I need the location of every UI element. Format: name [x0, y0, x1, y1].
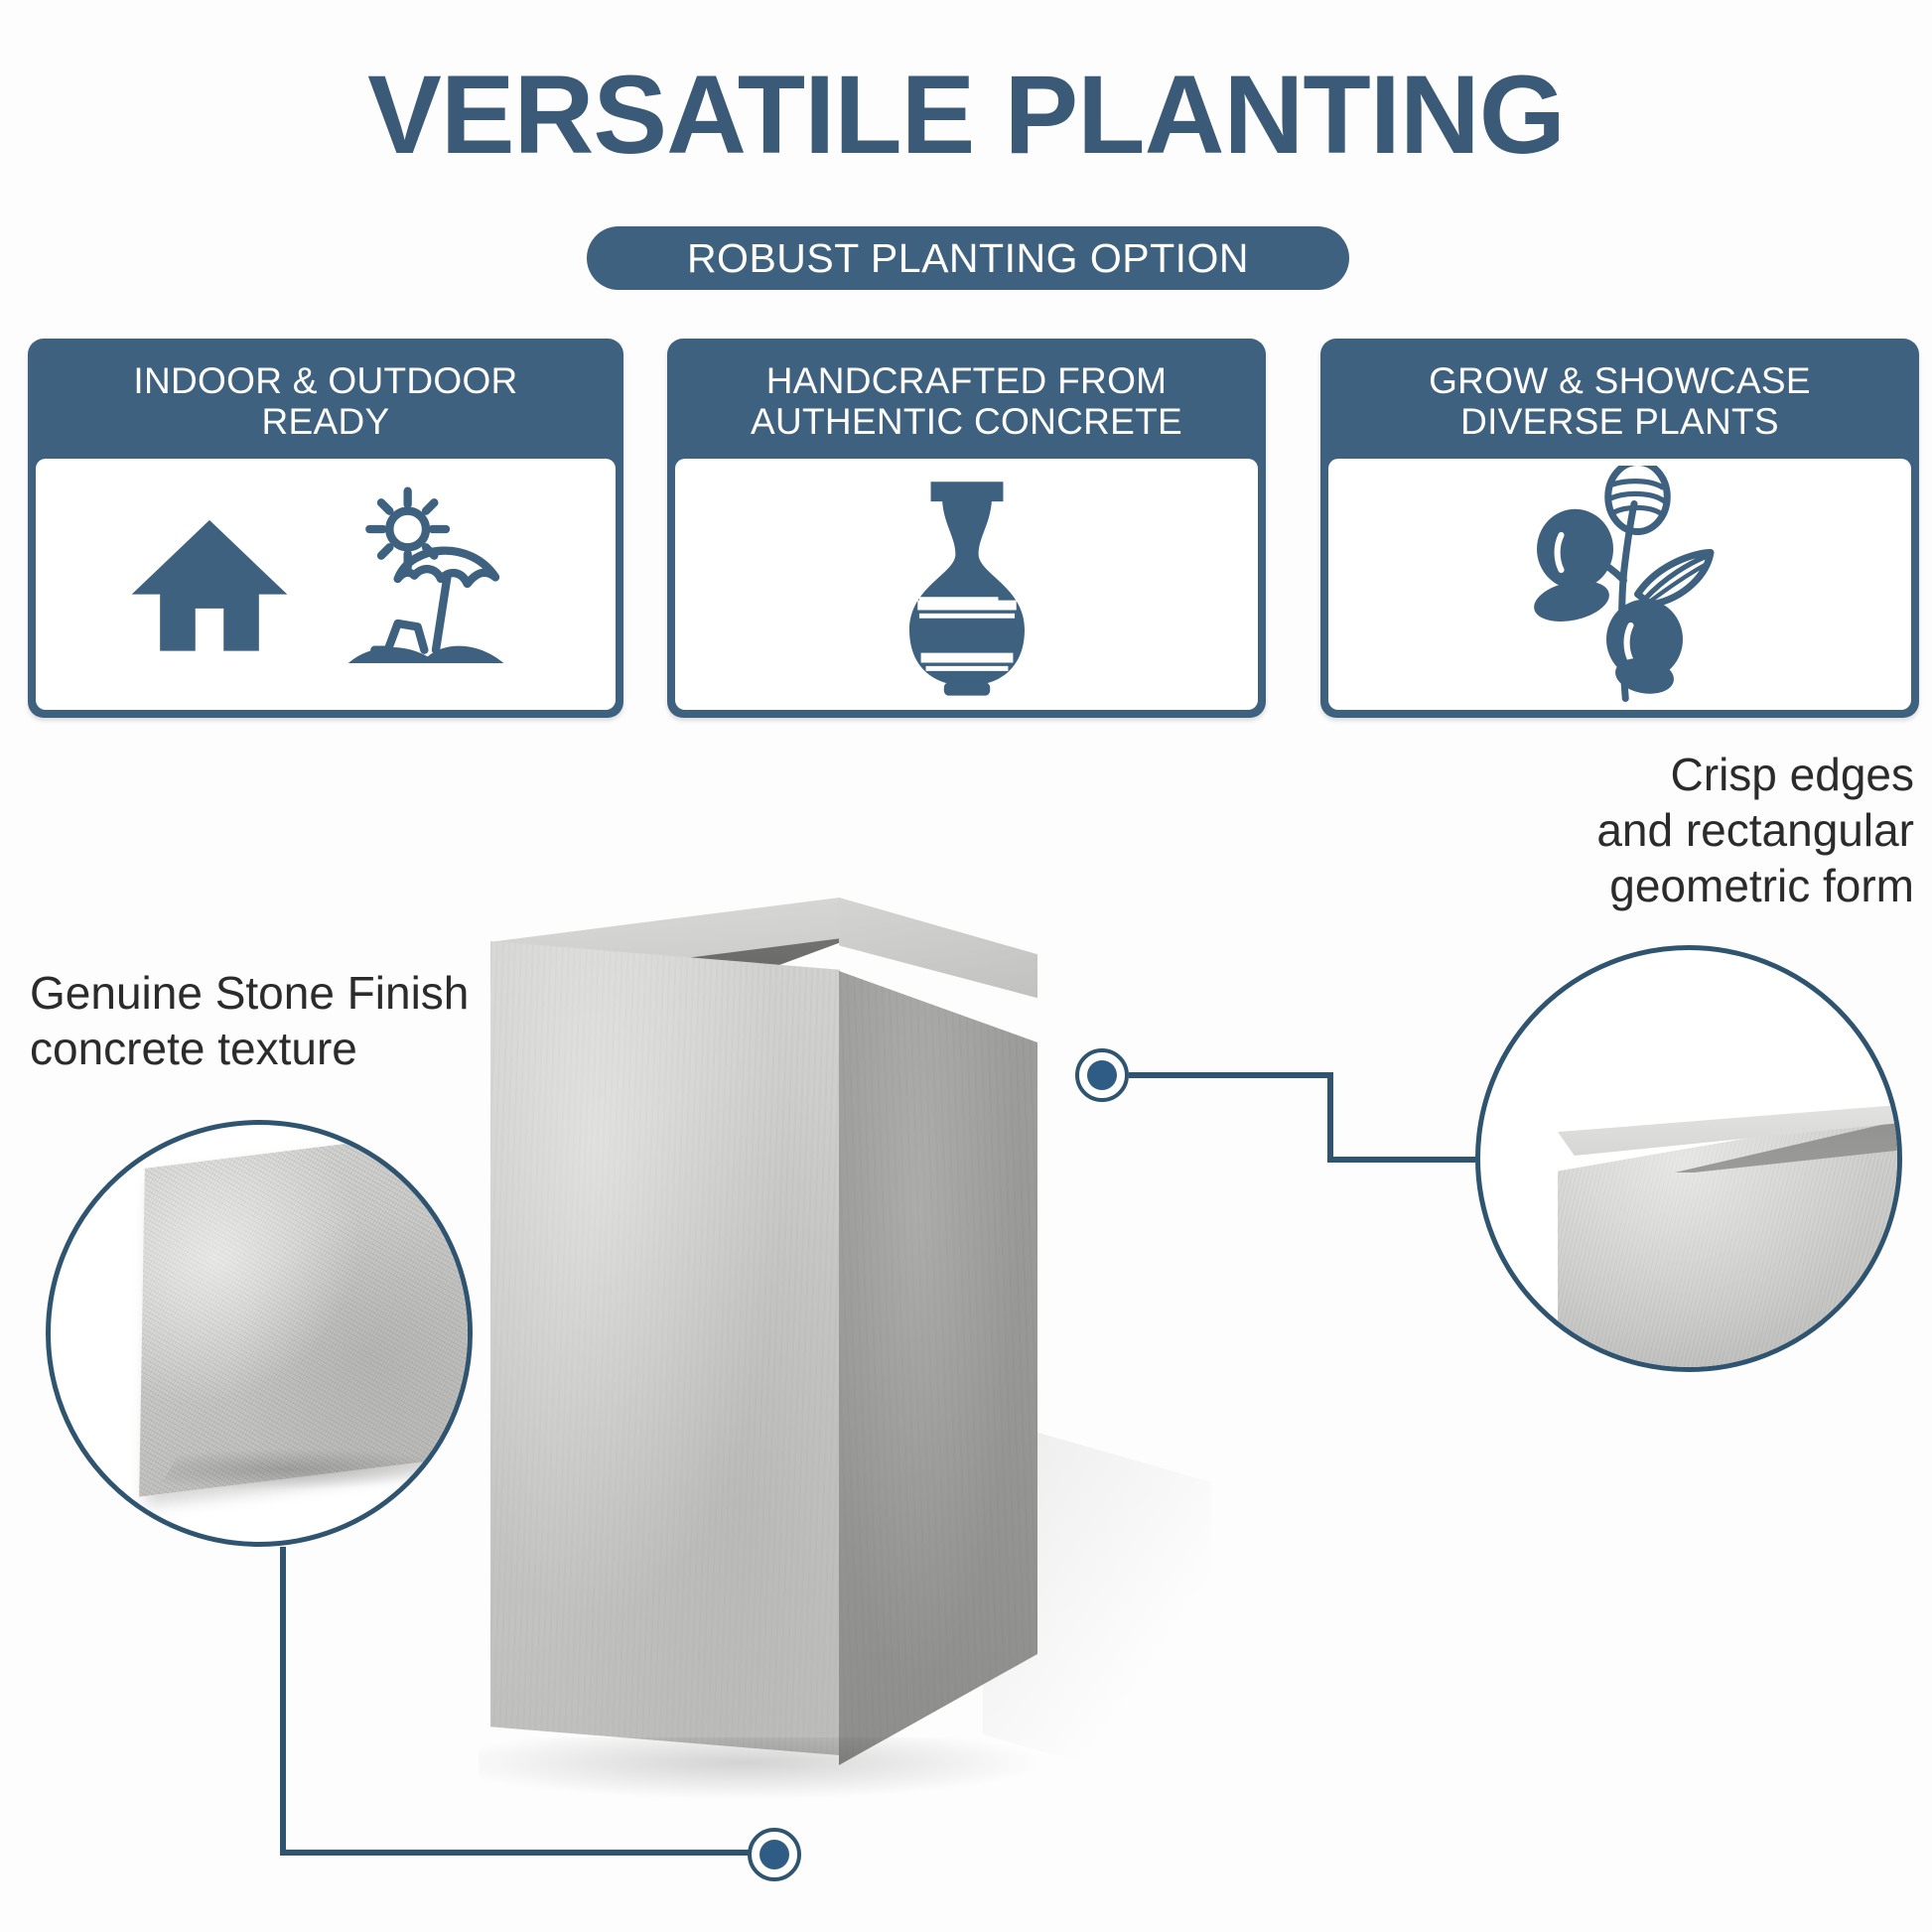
feature-card-icons	[36, 459, 616, 710]
feature-card-title-line2: AUTHENTIC CONCRETE	[681, 401, 1252, 442]
subtitle-badge: ROBUST PLANTING OPTION	[587, 226, 1349, 290]
callout-label-crisp-edges: Crisp edges and rectangular geometric fo…	[1596, 747, 1914, 913]
callout-crisp-line1: Crisp edges	[1596, 747, 1914, 802]
page-title: VERSATILE PLANTING	[0, 60, 1932, 171]
house-icon	[121, 495, 298, 672]
feature-card-title-line1: INDOOR & OUTDOOR	[42, 360, 610, 401]
callout-dot-bottom-surface[interactable]	[748, 1828, 801, 1881]
feature-card-handcrafted-concrete: HANDCRAFTED FROM AUTHENTIC CONCRETE	[667, 339, 1266, 718]
feature-card-title-line2: READY	[42, 401, 610, 442]
concrete-slab-shadow	[158, 1449, 470, 1490]
beach-umbrella-icon	[332, 484, 530, 683]
detail-bubble-stone-texture	[46, 1120, 473, 1547]
feature-card-title: HANDCRAFTED FROM AUTHENTIC CONCRETE	[675, 346, 1258, 459]
callout-dot-top-rim[interactable]	[1075, 1048, 1129, 1102]
feature-card-title: GROW & SHOWCASE DIVERSE PLANTS	[1328, 346, 1911, 459]
callout-stone-line1: Genuine Stone Finish	[30, 965, 469, 1021]
subtitle-badge-label: ROBUST PLANTING OPTION	[687, 235, 1249, 282]
vase-icon	[875, 469, 1059, 699]
sun-icon	[369, 491, 446, 568]
feature-card-title-line1: GROW & SHOWCASE	[1334, 360, 1905, 401]
product-image-planter	[467, 854, 1082, 1807]
feature-card-title-line2: DIVERSE PLANTS	[1334, 401, 1905, 442]
infographic-canvas: VERSATILE PLANTING ROBUST PLANTING OPTIO…	[0, 0, 1932, 1932]
feature-card-title: INDOOR & OUTDOOR READY	[36, 346, 616, 459]
feature-card-title-line1: HANDCRAFTED FROM	[681, 360, 1252, 401]
callout-crisp-line3: geometric form	[1596, 858, 1914, 913]
callout-crisp-line2: and rectangular	[1596, 802, 1914, 858]
feature-card-grow-showcase: GROW & SHOWCASE DIVERSE PLANTS	[1320, 339, 1919, 718]
feature-card-icons	[675, 459, 1258, 710]
planter-front-face	[490, 941, 840, 1755]
berry-branch-icon	[1516, 466, 1725, 702]
planter-side-face	[839, 971, 1037, 1765]
feature-card-icons	[1328, 459, 1911, 710]
callout-label-stone-finish: Genuine Stone Finish concrete texture	[30, 965, 469, 1076]
planter-ground-shadow	[479, 1737, 1054, 1801]
concrete-slab-closeup	[139, 1128, 473, 1496]
detail-bubble-crisp-edge	[1475, 945, 1902, 1372]
feature-card-indoor-outdoor: INDOOR & OUTDOOR READY	[28, 339, 623, 718]
callout-stone-line2: concrete texture	[30, 1021, 469, 1076]
